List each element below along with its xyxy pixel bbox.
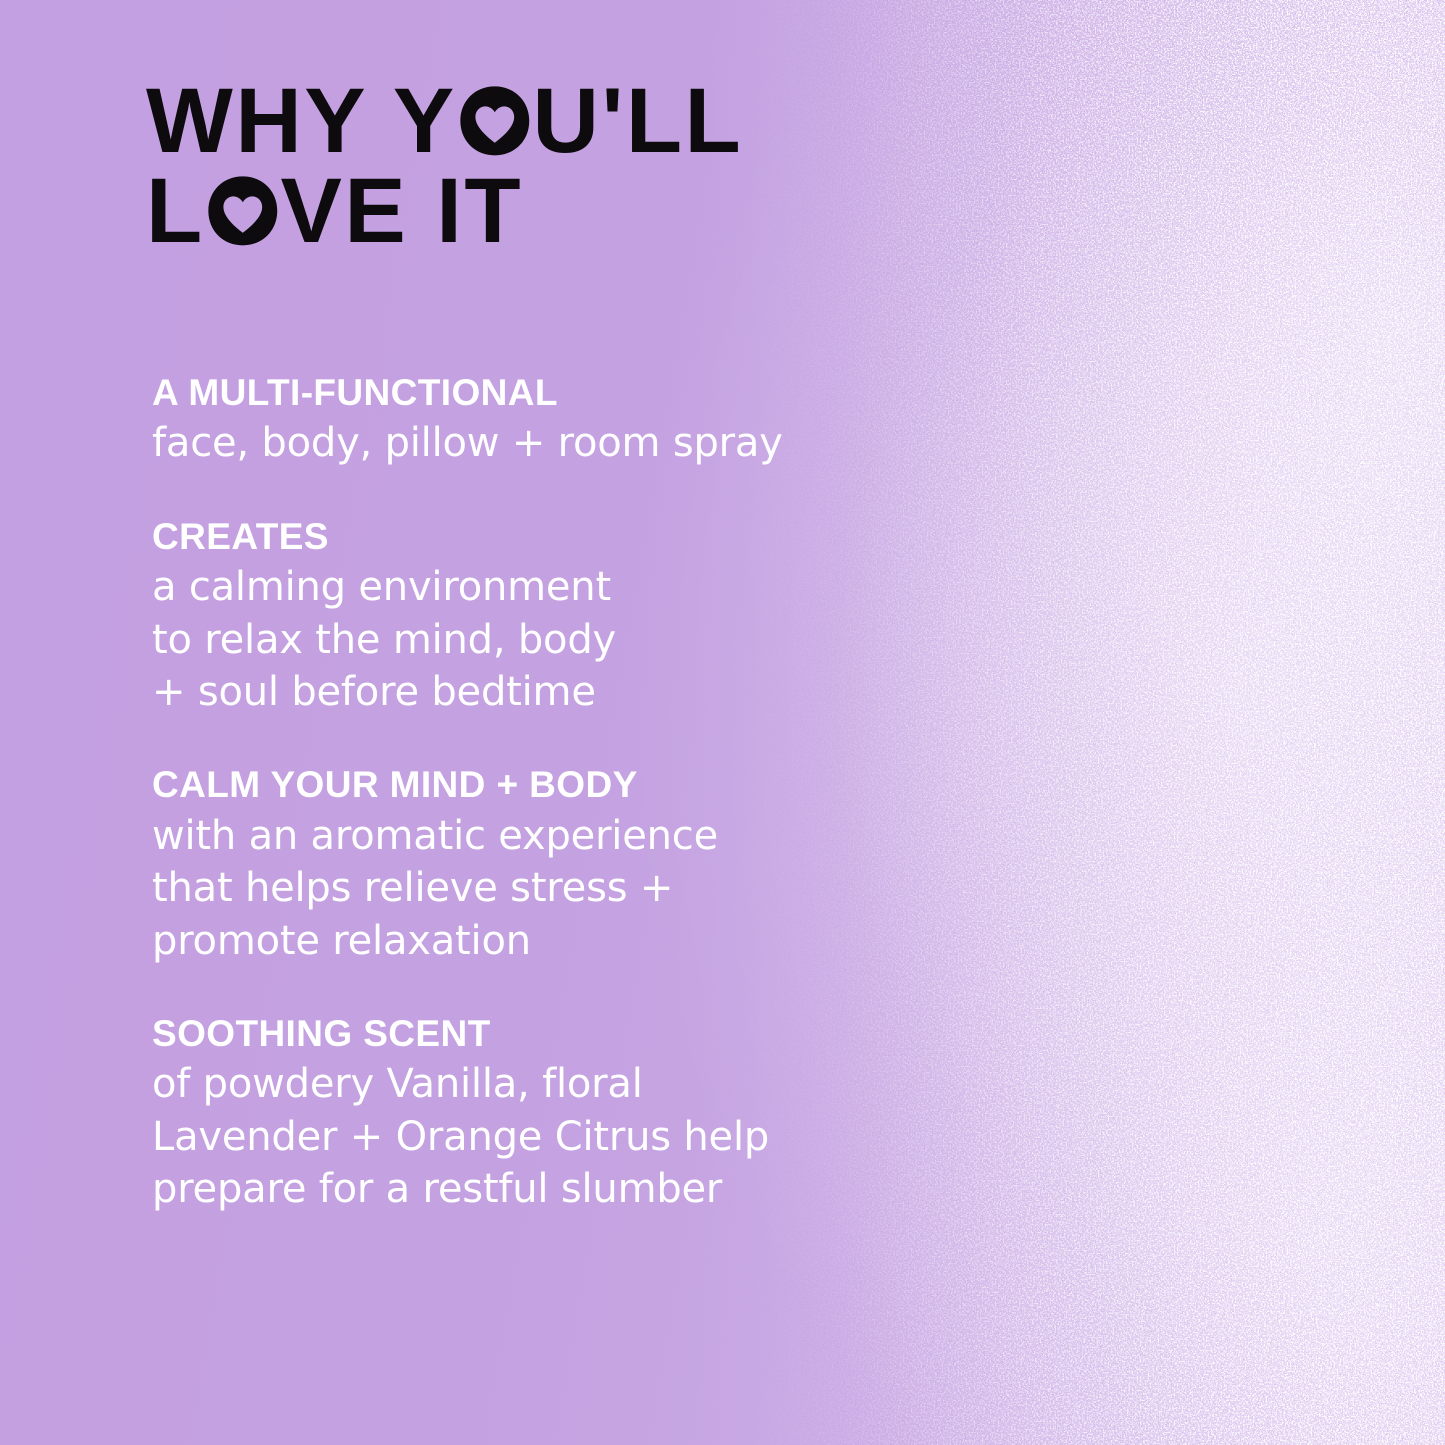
benefit-description-line: Lavender + Orange Citrus help	[152, 1111, 852, 1163]
benefits-list: A MULTI-FUNCTIONAL face, body, pillow + …	[152, 372, 852, 1216]
headline-line-1: WHY YU'LL	[146, 76, 906, 166]
benefit-description-line: to relax the mind, body	[152, 614, 852, 666]
headline-line-1-text-before: WHY Y	[146, 70, 457, 172]
benefit-item-multi-functional: A MULTI-FUNCTIONAL face, body, pillow + …	[152, 372, 852, 470]
benefit-title: A MULTI-FUNCTIONAL	[152, 372, 852, 413]
benefit-item-soothing-scent: SOOTHING SCENT of powdery Vanilla, flora…	[152, 1013, 852, 1216]
benefit-title: CREATES	[152, 516, 852, 557]
benefit-description: face, body, pillow + room spray	[152, 417, 852, 469]
benefit-description-line: of powdery Vanilla, floral	[152, 1058, 852, 1110]
benefit-description: with an aromatic experience that helps r…	[152, 810, 852, 967]
benefit-item-creates: CREATES a calming environment to relax t…	[152, 516, 852, 719]
headline-line-2-text-after: VE IT	[280, 160, 523, 262]
page-title: WHY YU'LL LVE IT	[146, 76, 906, 256]
benefit-title: CALM YOUR MIND + BODY	[152, 764, 852, 805]
benefit-description-line: face, body, pillow + room spray	[152, 417, 852, 469]
benefit-description-line: promote relaxation	[152, 915, 852, 967]
benefit-description: a calming environment to relax the mind,…	[152, 561, 852, 718]
benefit-description-line: + soul before bedtime	[152, 666, 852, 718]
headline-line-1-text-after: U'LL	[533, 70, 744, 172]
benefit-description-line: that helps relieve stress +	[152, 862, 852, 914]
benefit-description: of powdery Vanilla, floral Lavender + Or…	[152, 1058, 852, 1215]
headline-line-2-text-before: L	[146, 160, 205, 262]
headline-line-2: LVE IT	[146, 166, 906, 256]
heart-counter-o-icon-2	[206, 175, 280, 247]
product-benefits-graphic: WHY YU'LL LVE IT A MULTI-FUNCTIONAL face…	[0, 0, 1445, 1445]
benefit-title: SOOTHING SCENT	[152, 1013, 852, 1054]
benefit-description-line: a calming environment	[152, 561, 852, 613]
benefit-item-calm-your-mind-body: CALM YOUR MIND + BODY with an aromatic e…	[152, 764, 852, 967]
content-layer: WHY YU'LL LVE IT A MULTI-FUNCTIONAL face…	[0, 0, 1445, 1445]
benefit-description-line: prepare for a restful slumber	[152, 1163, 852, 1215]
benefit-description-line: with an aromatic experience	[152, 810, 852, 862]
heart-counter-o-icon	[458, 85, 532, 157]
